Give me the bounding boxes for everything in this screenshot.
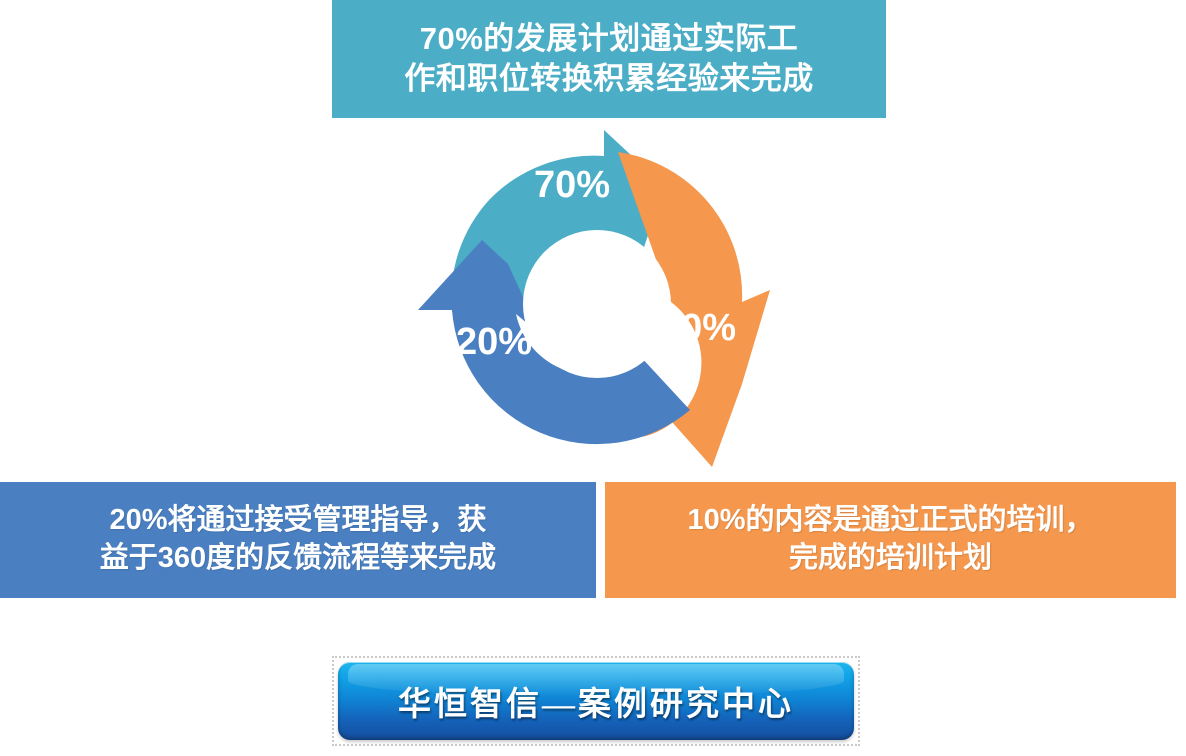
caption-box-20-percent: 20%将通过接受管理指导，获 益于360度的反馈流程等来完成	[0, 482, 596, 598]
caption-box-10-percent: 10%的内容是通过正式的培训， 完成的培训计划	[605, 482, 1176, 598]
footer-plaque[interactable]: 华恒智信—案例研究中心	[338, 662, 854, 740]
cycle-diagram: 70% 10% 20%	[390, 122, 810, 487]
cycle-label-10: 10%	[660, 307, 736, 349]
caption-box-10-percent-text: 10%的内容是通过正式的培训， 完成的培训计划	[687, 502, 1093, 577]
top-caption-text: 70%的发展计划通过实际工 作和职位转换积累经验来完成	[404, 19, 814, 98]
lower-caption-row: 20%将通过接受管理指导，获 益于360度的反馈流程等来完成 10%的内容是通过…	[0, 482, 1186, 598]
cycle-center-hole	[523, 230, 671, 378]
caption-box-20-percent-text: 20%将通过接受管理指导，获 益于360度的反馈流程等来完成	[100, 502, 496, 577]
cycle-label-20: 20%	[456, 321, 532, 363]
footer-plaque-selection-frame[interactable]: 华恒智信—案例研究中心	[332, 656, 860, 746]
footer-plaque-text: 华恒智信—案例研究中心	[398, 677, 794, 725]
top-caption-banner: 70%的发展计划通过实际工 作和职位转换积累经验来完成	[332, 0, 886, 118]
cycle-label-70: 70%	[534, 164, 610, 206]
